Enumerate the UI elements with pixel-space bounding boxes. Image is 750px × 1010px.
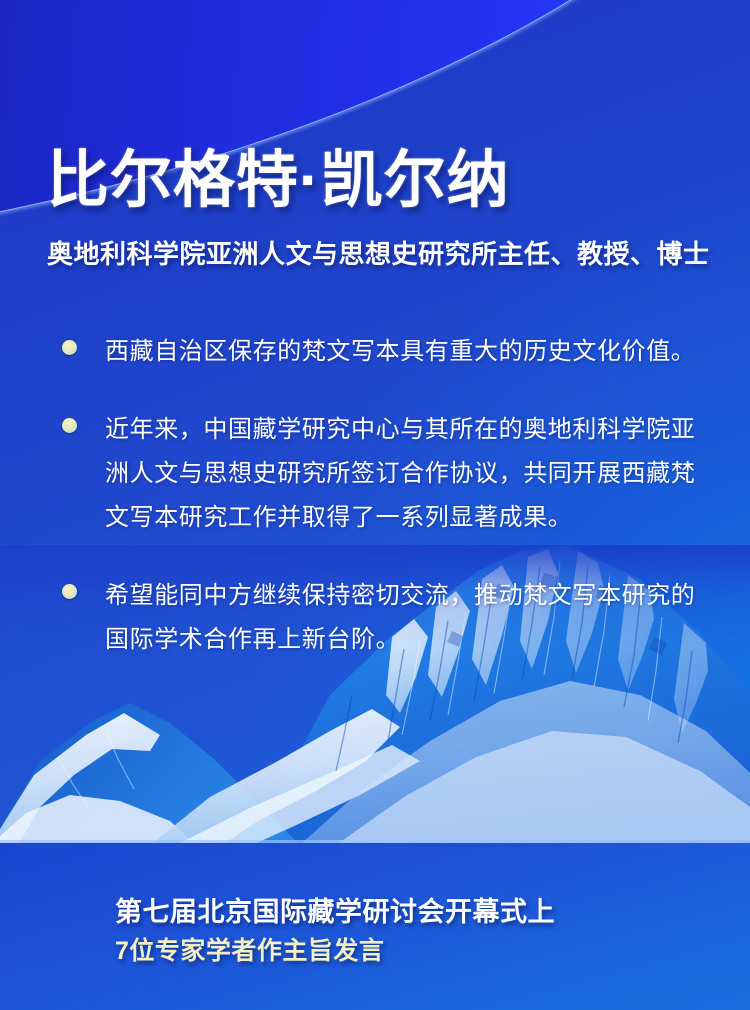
footer-line-primary: 第七届北京国际藏学研讨会开幕式上 [115,894,555,930]
footer-caption: 第七届北京国际藏学研讨会开幕式上 7位专家学者作主旨发言 [115,894,555,968]
page-title: 比尔格特·凯尔纳 [47,146,510,216]
bullet-list: 西藏自治区保存的梵文写本具有重大的历史文化价值。 近年来，中国藏学研究中心与其所… [62,330,702,696]
poster-content: 比尔格特·凯尔纳 奥地利科学院亚洲人文与思想史研究所主任、教授、博士 西藏自治区… [0,0,750,1010]
list-item: 近年来，中国藏学研究中心与其所在的奥地利科学院亚洲人文与思想史研究所签订合作协议… [62,408,702,540]
bullet-text: 希望能同中方继续保持密切交流，推动梵文写本研究的国际学术合作再上新台阶。 [105,574,702,662]
footer-line-secondary: 7位专家学者作主旨发言 [115,935,555,968]
bullet-dot-icon [62,340,77,355]
bullet-text: 近年来，中国藏学研究中心与其所在的奥地利科学院亚洲人文与思想史研究所签订合作协议… [105,408,702,540]
list-item: 西藏自治区保存的梵文写本具有重大的历史文化价值。 [62,330,702,374]
bullet-dot-icon [62,418,77,433]
page-subtitle: 奥地利科学院亚洲人文与思想史研究所主任、教授、博士 [47,238,710,270]
bullet-text: 西藏自治区保存的梵文写本具有重大的历史文化价值。 [105,330,695,374]
list-item: 希望能同中方继续保持密切交流，推动梵文写本研究的国际学术合作再上新台阶。 [62,574,702,662]
bullet-dot-icon [62,584,77,599]
poster-root: 比尔格特·凯尔纳 奥地利科学院亚洲人文与思想史研究所主任、教授、博士 西藏自治区… [0,0,750,1010]
